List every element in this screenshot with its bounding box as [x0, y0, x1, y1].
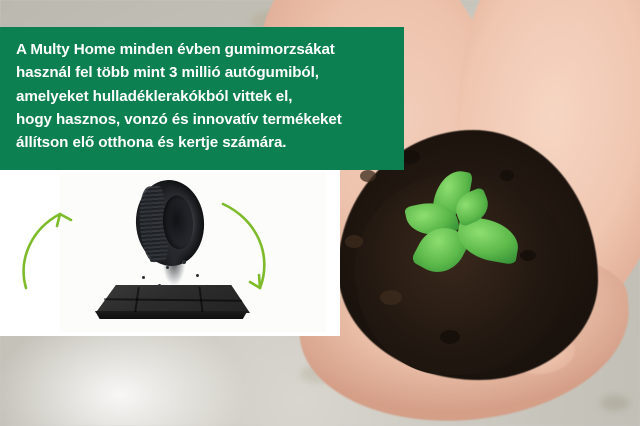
rubber-crumb [150, 258, 154, 262]
banner-image: A Multy Home minden évben gumimorzsákat … [0, 0, 640, 426]
promo-paragraph: A Multy Home minden évben gumimorzsákat … [16, 38, 390, 154]
rubber-crumb [142, 276, 145, 279]
soil-clod [380, 290, 402, 305]
rubber-crumb [182, 260, 186, 264]
rubber-crumb [196, 274, 199, 277]
ground-speck [600, 395, 630, 411]
soil-clod [360, 170, 376, 182]
product-illustration-panel [0, 170, 340, 336]
seedling [405, 168, 555, 298]
paver-edge [95, 311, 249, 319]
soil-clod [345, 235, 363, 248]
rubber-crumb [166, 266, 169, 269]
rubber-paver-tile [94, 285, 250, 323]
tire-to-paver-illustration [0, 170, 340, 336]
green-text-panel: A Multy Home minden évben gumimorzsákat … [0, 27, 404, 170]
soil-clod [440, 330, 460, 344]
